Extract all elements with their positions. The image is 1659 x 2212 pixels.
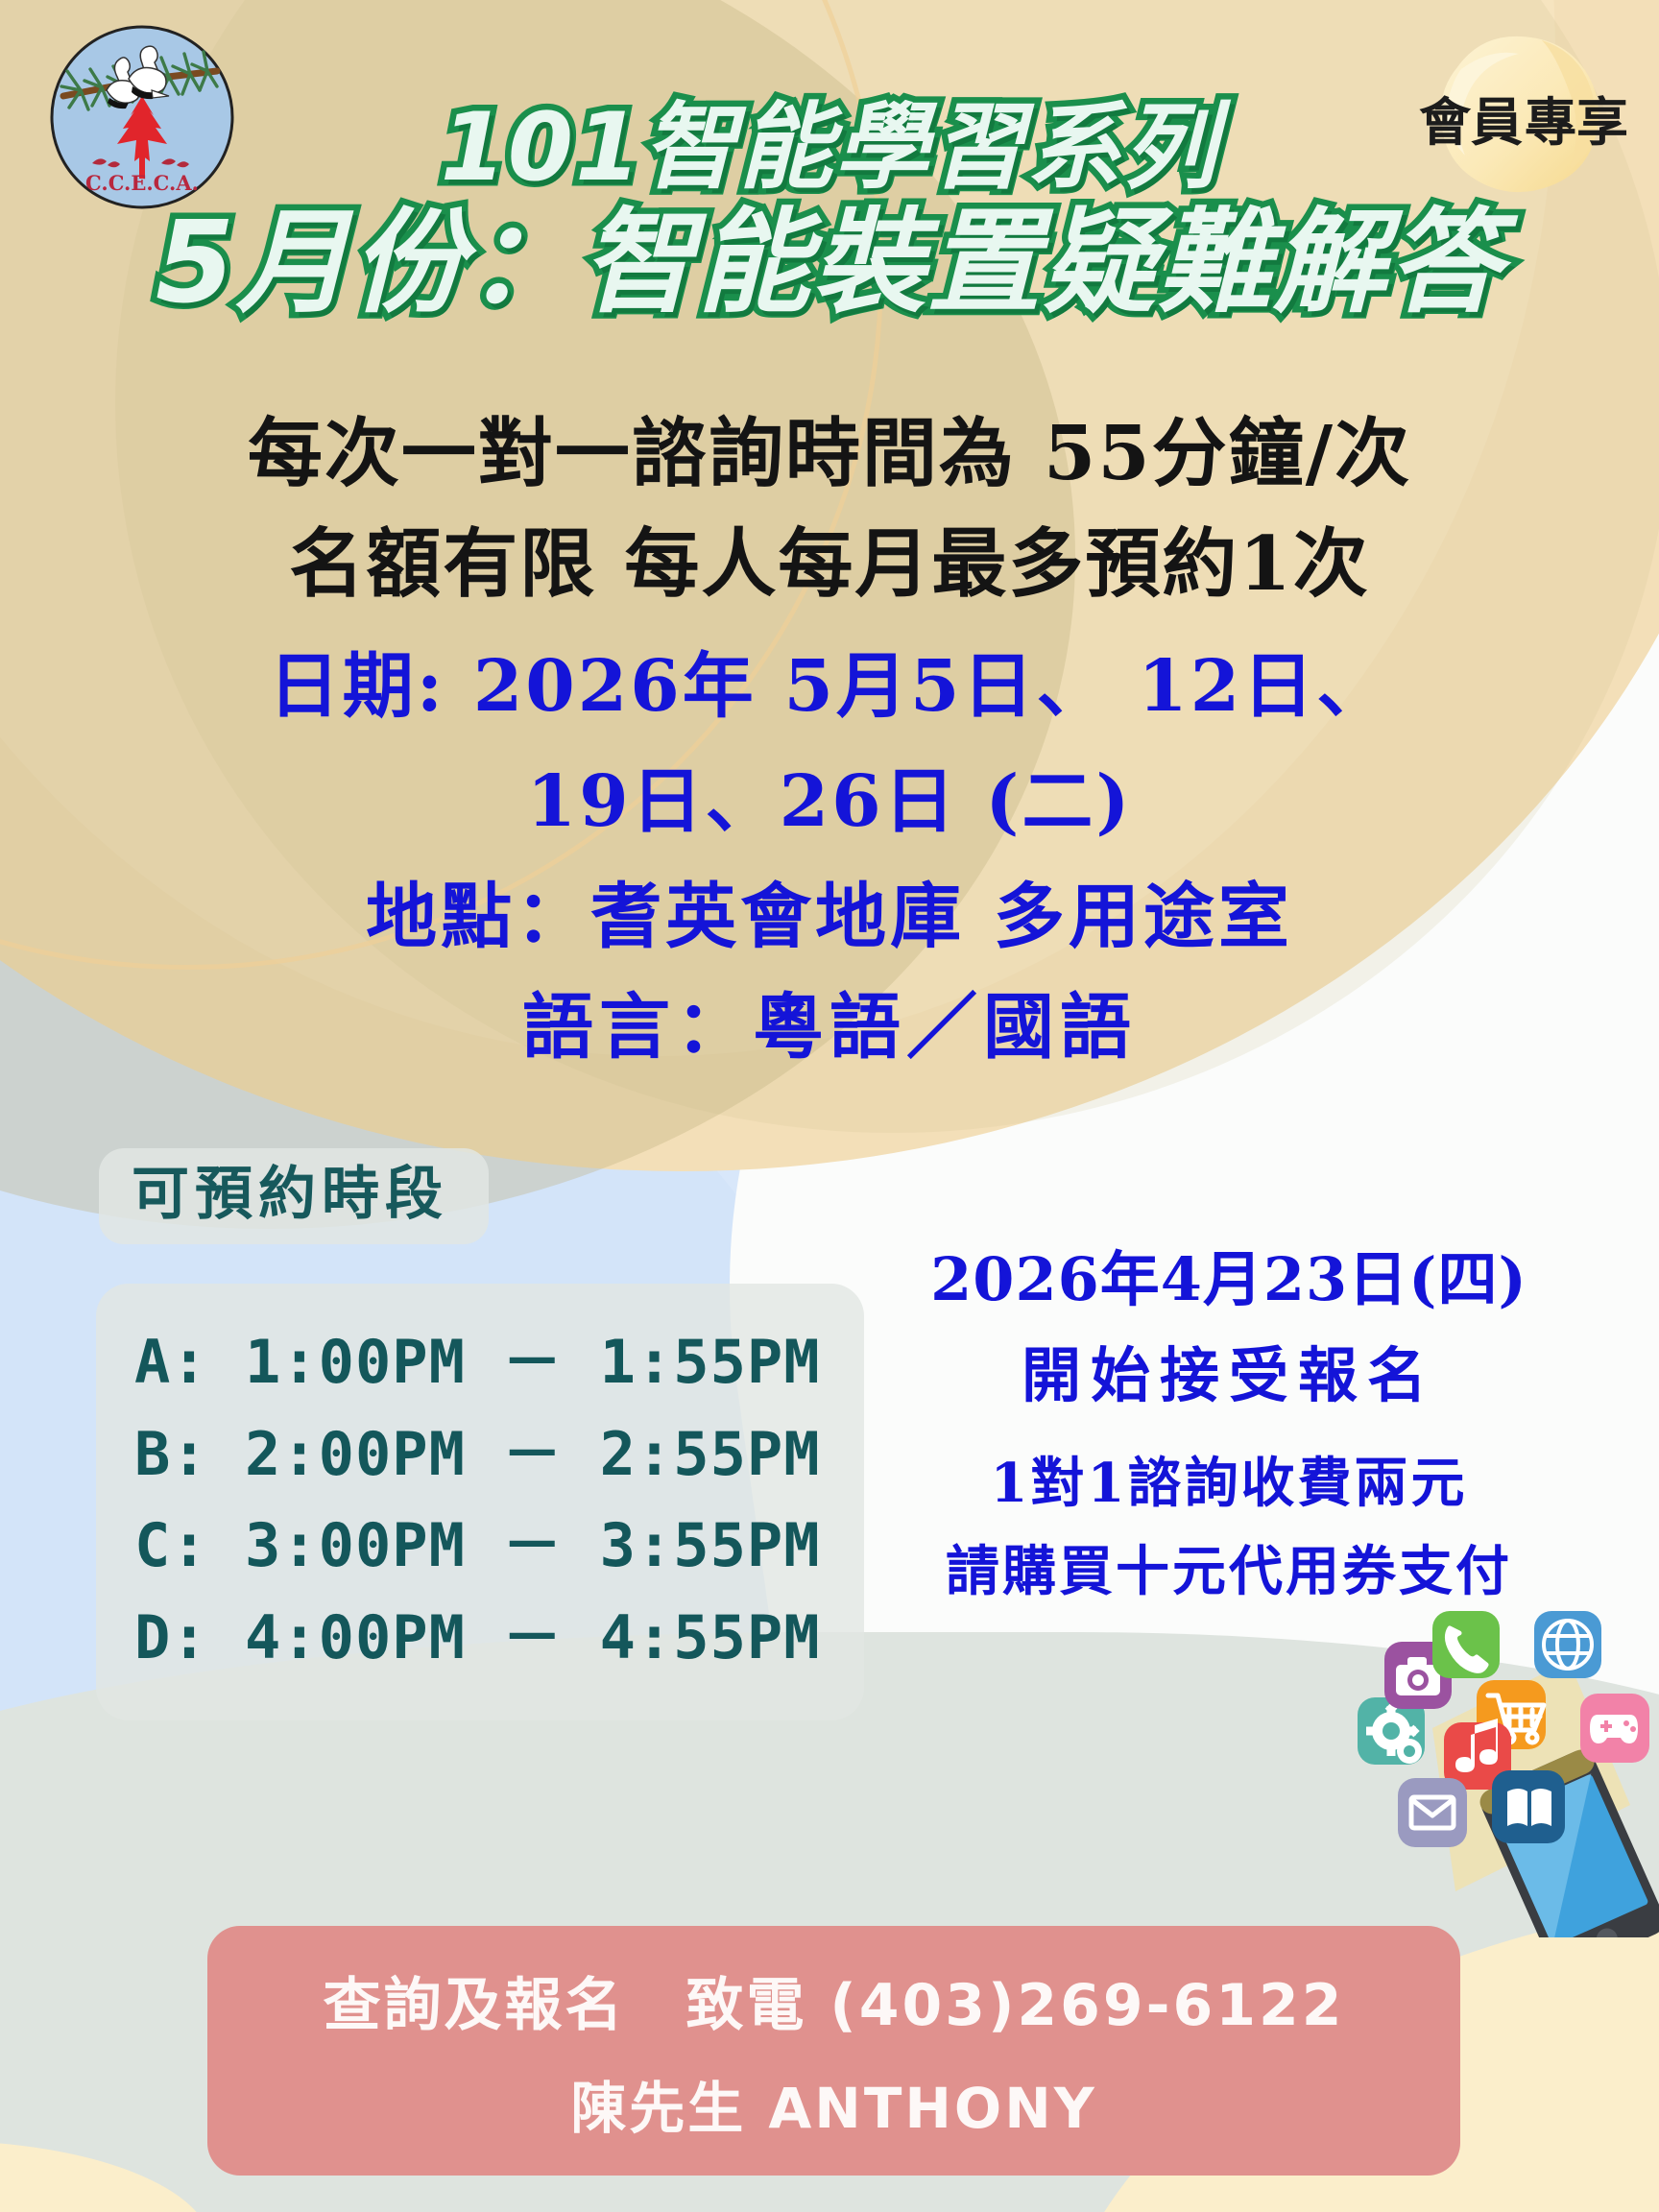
slots-heading-text: 可預約時段 (132, 1161, 448, 1228)
slot-item-d: D: 4:00PM － 4:55PM (106, 1592, 854, 1684)
book-icon (1492, 1770, 1565, 1843)
title-line-1: 101智能學習系列 (0, 101, 1659, 197)
slots-heading-box: 可預約時段 (99, 1148, 489, 1244)
language-line: 語言：粵語／國語 (0, 970, 1659, 1072)
contact-phone-line: 查詢及報名 致電 (403)269-6122 (323, 1959, 1344, 2042)
registration-payment-line: 請購買十元代用券支付 (816, 1528, 1642, 1606)
session-duration-text: 每次一對一諮詢時間為 55分鐘/次 (0, 394, 1659, 501)
devices-illustration (1342, 1601, 1659, 1937)
slots-list-box: A: 1:00PM － 1:55PM B: 2:00PM － 2:55PM C:… (96, 1284, 864, 1720)
globe-icon (1534, 1611, 1601, 1678)
slot-item-a: A: 1:00PM － 1:55PM (106, 1316, 854, 1408)
poster-canvas: C.C.E.C.A. 會員 專享 101智能學習系列 5月份：智能裝置疑難解答 (0, 0, 1659, 2212)
location-line: 地點：耆英會地庫 多用途室 (0, 859, 1659, 962)
registration-fee-line: 1對1諮詢收費兩元 (816, 1440, 1642, 1518)
date-line-2: 19日、26日 (二) (0, 744, 1659, 847)
background-cream-corner-bottom-left (0, 2141, 211, 2212)
poster-title: 101智能學習系列 5月份：智能裝置疑難解答 (0, 101, 1659, 320)
phone-icon (1432, 1611, 1500, 1678)
contact-person-line: 陳先生 ANTHONY (570, 2063, 1097, 2144)
contact-bar: 查詢及報名 致電 (403)269-6122 陳先生 ANTHONY (207, 1926, 1460, 2176)
slot-item-c: C: 3:00PM － 3:55PM (106, 1500, 854, 1592)
session-quota-text: 名額有限 每人每月最多預約1次 (0, 504, 1659, 612)
gamepad-icon (1580, 1694, 1649, 1763)
slot-item-b: B: 2:00PM － 2:55PM (106, 1408, 854, 1501)
date-line-1: 日期: 2026年 5月5日、 12日、 (0, 629, 1659, 732)
registration-open-text: 開始接受報名 (816, 1327, 1642, 1413)
title-line-2: 5月份：智能裝置疑難解答 (0, 204, 1659, 320)
registration-open-date: 2026年4月23日(四) (816, 1231, 1642, 1317)
mail-icon (1398, 1778, 1467, 1847)
